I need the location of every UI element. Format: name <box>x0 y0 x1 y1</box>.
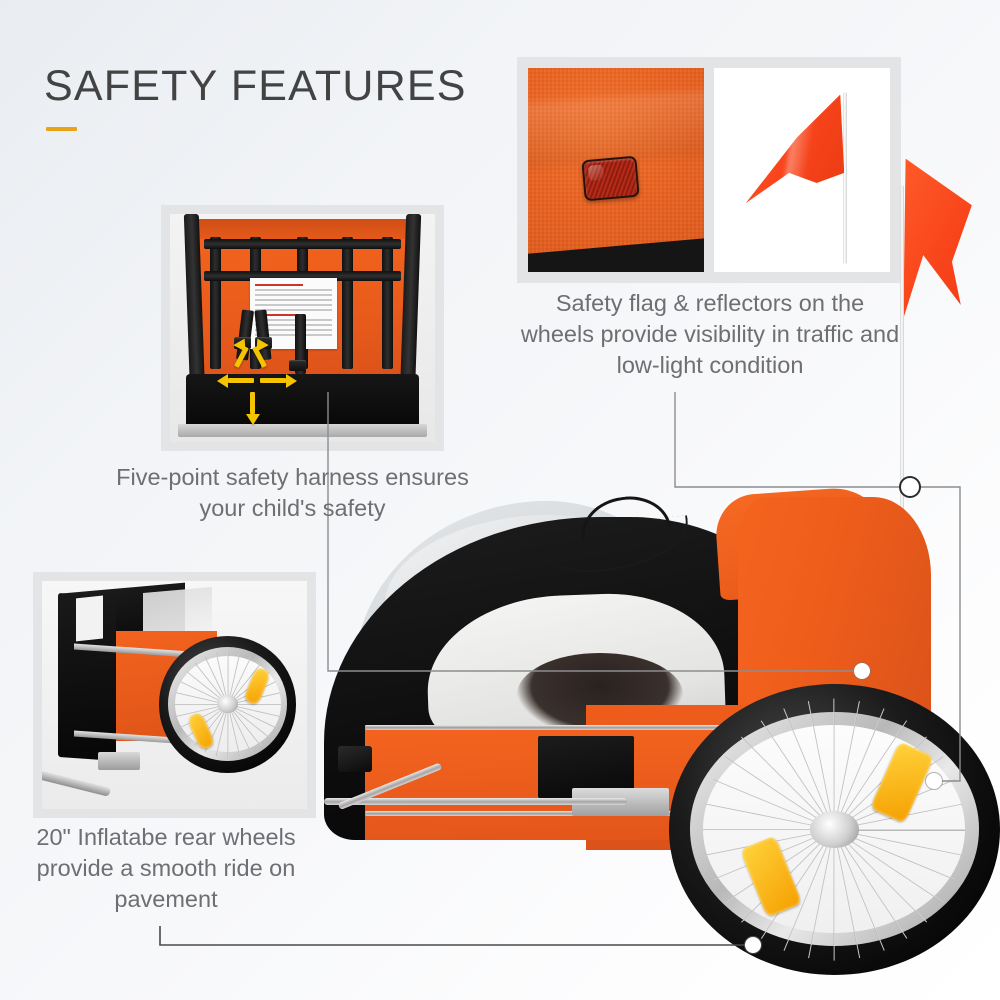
flag-reflector-photo-frame <box>517 57 901 283</box>
buckle-center <box>289 360 306 371</box>
caption-harness: Five-point safety harness ensures your c… <box>110 462 475 524</box>
callout-dot-rear <box>926 773 942 789</box>
title-accent-rule <box>46 127 77 131</box>
infographic-canvas: SAFETY FEATURES <box>0 0 1000 1000</box>
hitch-bracket <box>98 752 140 770</box>
frame-base-bar <box>178 424 427 438</box>
harness-photo <box>170 214 435 442</box>
safety-flag-photo <box>714 68 890 272</box>
rear-wheel-photo <box>42 581 307 809</box>
harness-photo-frame <box>161 205 444 451</box>
hitch-arm <box>324 798 628 805</box>
safety-flag <box>903 159 1000 325</box>
caption-flag-reflectors: Safety flag & reflectors on the wheels p… <box>520 288 900 381</box>
red-reflector <box>581 155 639 200</box>
reflector-closeup-photo <box>528 68 704 272</box>
callout-dot-harness <box>854 663 870 679</box>
flag-pole <box>843 92 847 263</box>
rear-wheel-photo-frame <box>33 572 316 818</box>
callout-dot-flag <box>901 478 919 496</box>
hitch-coupler <box>338 746 373 772</box>
seat-top-shadow <box>194 219 411 240</box>
web-strap-vertical <box>382 237 393 369</box>
caption-rear-wheels: 20" Inflatabe rear wheels provide a smoo… <box>6 822 326 915</box>
web-strap-vertical <box>342 237 353 369</box>
hero-wheel-hub <box>810 811 858 847</box>
callout-dot-wheel <box>745 937 761 953</box>
web-strap-vertical <box>210 237 221 369</box>
page-title: SAFETY FEATURES <box>44 62 467 111</box>
warning-label <box>76 596 103 642</box>
web-strap-horizontal <box>204 239 400 249</box>
hero-product-trailer <box>310 455 1000 975</box>
